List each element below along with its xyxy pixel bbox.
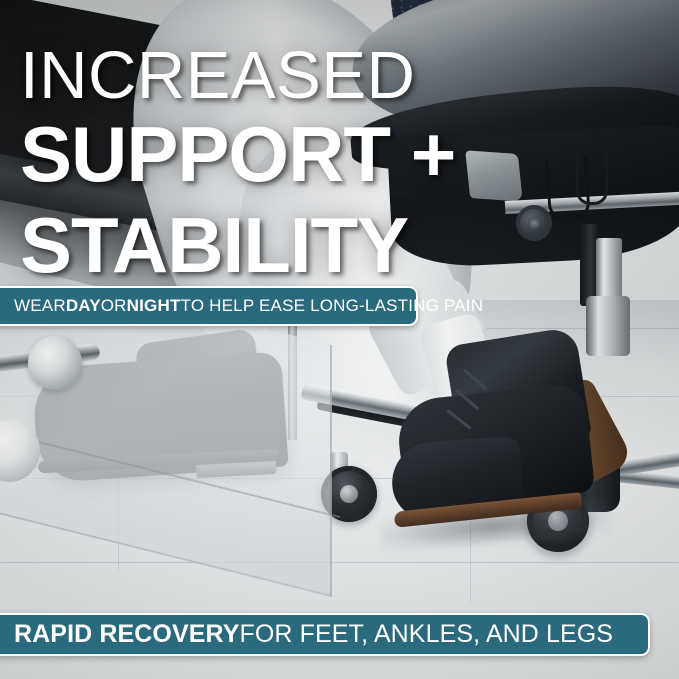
- top-banner-bold-day: DAY: [66, 296, 101, 316]
- chair-tension-knob: [516, 205, 552, 241]
- chair-mechanism-plate: [465, 150, 523, 201]
- advertisement-image: INCREASED SUPPORT + STABILITY WEAR DAY O…: [0, 0, 679, 679]
- chair-cable-secondary: [576, 150, 608, 205]
- top-banner-suffix: TO HELP EASE LONG-LASTING PAIN: [181, 296, 484, 316]
- bottom-banner: RAPID RECOVERY FOR FEET, ANKLES, AND LEG…: [0, 613, 650, 656]
- bottom-banner-rest: FOR FEET, ANKLES, AND LEGS: [240, 620, 614, 649]
- bottom-banner-bold: RAPID RECOVERY: [14, 620, 240, 649]
- headline-line-2: SUPPORT +: [20, 115, 455, 193]
- top-banner: WEAR DAY OR NIGHT TO HELP EASE LONG-LAST…: [0, 286, 418, 326]
- chrome-disc-upper: [28, 336, 82, 390]
- top-banner-bold-night: NIGHT: [127, 296, 181, 316]
- caster-hub-left: [340, 485, 358, 503]
- top-banner-prefix: WEAR: [14, 296, 66, 316]
- top-banner-middle: OR: [101, 296, 127, 316]
- headline-line-3: STABILITY: [20, 206, 408, 284]
- chair-gas-cylinder: [596, 238, 622, 304]
- headline-line-1: INCREASED: [20, 42, 415, 109]
- chair-cylinder-collar: [586, 296, 630, 356]
